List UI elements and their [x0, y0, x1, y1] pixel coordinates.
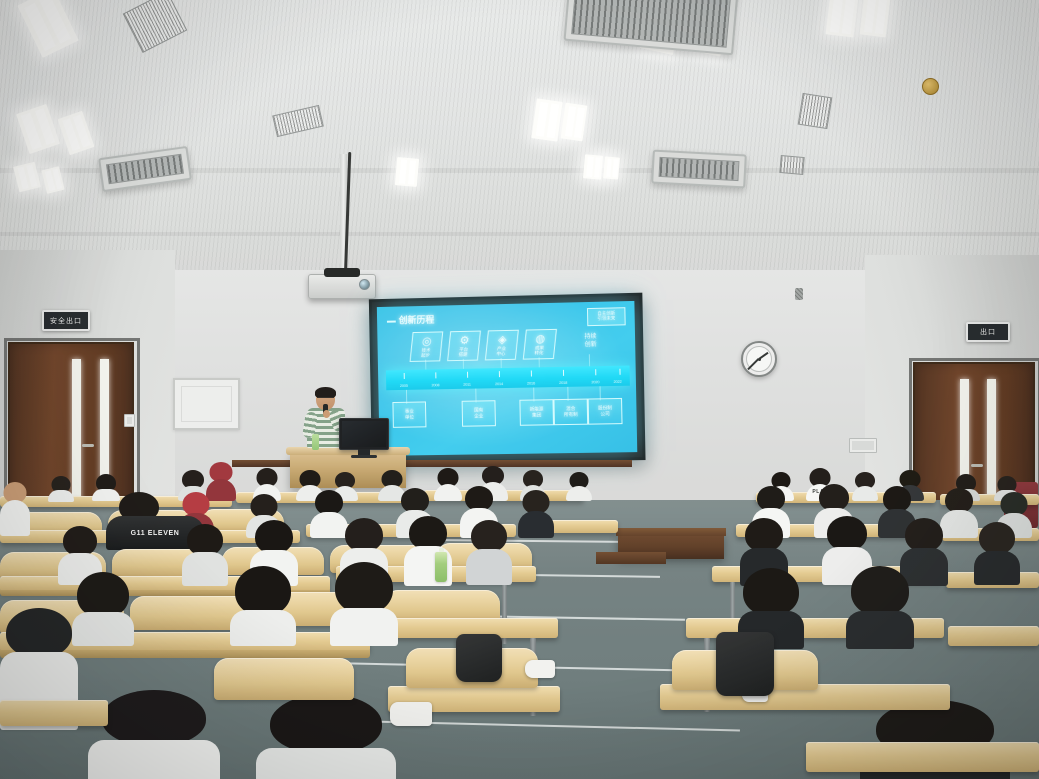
seat-back [214, 658, 354, 700]
stage-icon-3: ◍ [535, 334, 546, 345]
stage-top [616, 528, 726, 536]
ceiling-vent [798, 93, 833, 129]
exit-sign-left: 安全出口 [42, 310, 90, 331]
ceiling-light-panel [603, 156, 620, 179]
backpack [456, 634, 502, 682]
student-foreground [256, 694, 396, 779]
wall-speaker-icon [795, 288, 803, 300]
slide-stage-box: ◍ 成果转化 [523, 329, 557, 360]
student [434, 468, 462, 500]
student [230, 566, 296, 642]
projection-screen-frame: 创新历程 自主创新 引领未来 ◎ 技术起步 ⚙ 平台搭建 ◈ 产业中心 ◍ [369, 293, 646, 464]
title-dash-icon [387, 320, 396, 322]
slide-stage-box: ⚙ 平台搭建 [447, 331, 481, 362]
slide-corner-badge: 自主创新 引领未来 [587, 307, 626, 326]
ceiling-light-panel [531, 98, 562, 141]
exit-sign-right-label: 出口 [980, 327, 996, 337]
water-bottle-podium [312, 434, 319, 450]
desk-row-foreground [806, 742, 1039, 772]
exit-sign-right: 出口 [966, 322, 1010, 342]
badge-line-2: 引领未来 [597, 316, 615, 321]
slide-stage-box: ◎ 技术起步 [410, 331, 444, 362]
backpack [716, 632, 774, 696]
student [518, 490, 554, 536]
student [466, 520, 512, 582]
desk-row-foreground [0, 700, 108, 726]
shoe [390, 702, 432, 726]
stage-icon-1: ⚙ [459, 336, 470, 347]
smoke-detector-icon [922, 78, 939, 95]
water-bottle-desk [435, 552, 447, 582]
projected-slide: 创新历程 自主创新 引领未来 ◎ 技术起步 ⚙ 平台搭建 ◈ 产业中心 ◍ [377, 301, 637, 456]
eyeglasses-icon [317, 397, 334, 402]
whiteboard [173, 378, 240, 430]
slide-org-box: 事业单位 [392, 401, 426, 427]
presenter-hand [323, 410, 330, 418]
student [48, 476, 74, 500]
projector-lens-icon [359, 279, 370, 290]
student [72, 572, 134, 642]
student [974, 522, 1020, 582]
student [330, 562, 398, 642]
slide-title: 创新历程 [387, 313, 435, 327]
wall-outlet[interactable] [849, 438, 877, 453]
shoe [525, 660, 555, 678]
jacket-text: G11 ELEVEN [131, 530, 180, 537]
ceiling-light-panel [826, 0, 859, 38]
stage-icon-2: ◈ [498, 335, 508, 346]
ceiling-light-panel [583, 154, 603, 179]
ac-unit [651, 150, 747, 189]
slide-org-box: 混合所有制 [553, 399, 588, 426]
slide-org-box: 国有企业 [462, 400, 496, 427]
wall-outlet[interactable] [124, 414, 135, 427]
ceiling-vent [779, 155, 804, 175]
podium-monitor[interactable] [339, 418, 389, 450]
student [0, 482, 30, 534]
student [566, 472, 592, 500]
stage-icon-0: ◎ [422, 337, 433, 348]
slide-milestone: 持续创新 [572, 334, 609, 350]
lecture-hall-photo: 安全出口 出口 创新历程 自主创新 引领未来 [0, 0, 1039, 779]
slide-org-box: 新能源集团 [519, 399, 554, 426]
student [182, 524, 228, 582]
ceiling-light-panel [860, 0, 891, 37]
desk-row [948, 626, 1039, 646]
student [852, 472, 878, 500]
exit-sign-left-label: 安全出口 [50, 316, 82, 326]
wall-clock [741, 341, 777, 377]
ceiling-light-panel [395, 157, 419, 187]
student [846, 566, 914, 644]
slide-stage-box: ◈ 产业中心 [485, 330, 519, 361]
slide-org-box: 股份制公司 [588, 398, 623, 425]
projector [308, 274, 376, 299]
stage-step [596, 552, 666, 564]
